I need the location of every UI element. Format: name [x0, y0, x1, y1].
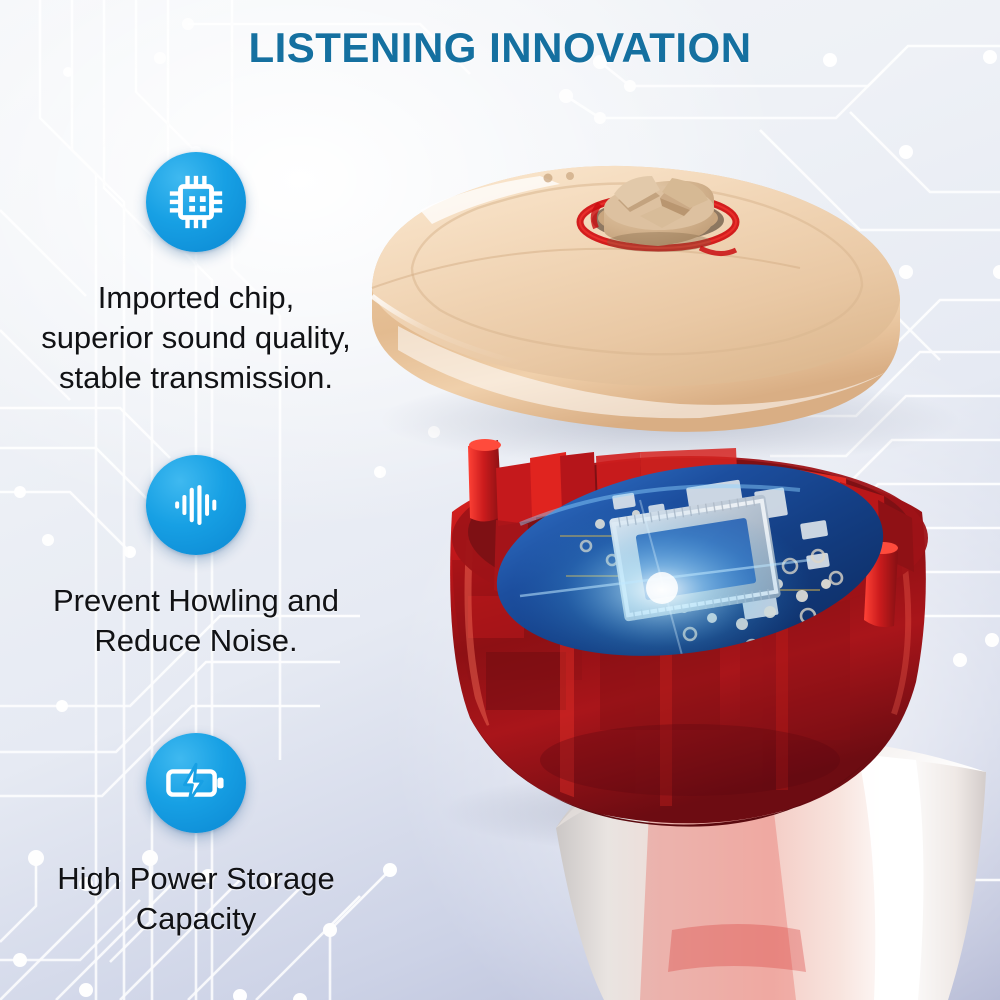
feature-icon-badge-noise — [146, 455, 246, 555]
feature-text-chip: Imported chip, superior sound quality, s… — [0, 278, 392, 398]
page-title: LISTENING INNOVATION — [0, 24, 1000, 72]
feature-text-noise: Prevent Howling and Reduce Noise. — [0, 581, 392, 661]
feature-text-battery: High Power Storage Capacity — [0, 859, 392, 939]
sound-wave-icon — [167, 476, 225, 534]
battery-charging-icon — [164, 751, 228, 815]
marketing-banner: LISTENING INNOVATION — [0, 0, 1000, 1000]
feature-item-battery: High Power Storage Capacity — [0, 733, 392, 939]
feature-item-chip: Imported chip, superior sound quality, s… — [0, 152, 392, 398]
feature-icon-badge-chip — [146, 152, 246, 252]
feature-item-noise: Prevent Howling and Reduce Noise. — [0, 455, 392, 661]
feature-icon-badge-battery — [146, 733, 246, 833]
cpu-chip-icon — [165, 171, 227, 233]
